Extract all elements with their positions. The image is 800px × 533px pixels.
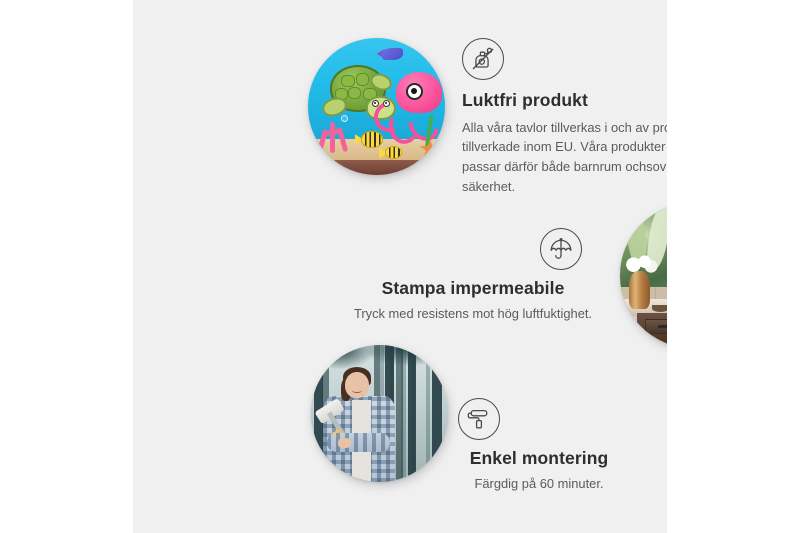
pink-coral: [313, 115, 354, 156]
product-features-panel: Luktfri produkt Alla våra tavlor tillver…: [133, 0, 667, 533]
feature-title: Luktfri produkt: [462, 90, 667, 112]
wooden-vanity: [637, 313, 667, 348]
feature-title: Enkel montering: [395, 448, 667, 470]
blue-fish: [382, 48, 403, 60]
screenshot-stage: Luktfri produkt Alla våra tavlor tillver…: [0, 0, 800, 533]
feature-description: Tryck med resistens mot hög luftfuktighe…: [328, 304, 618, 324]
person-folded-arms: [327, 433, 390, 452]
feature-description: Alla våra tavlor tillverkas i och av pro…: [462, 118, 667, 196]
product-photo-underwater-scene[interactable]: [308, 38, 445, 175]
feature-odor-free: Luktfri produkt Alla våra tavlor tillver…: [462, 38, 667, 196]
decorative-bowl: [652, 305, 667, 312]
brass-vase: [629, 271, 651, 309]
sea-rock: [308, 160, 445, 175]
person-face: [345, 372, 368, 398]
feature-waterproof-print: Stampa impermeabile Tryck med resistens …: [328, 228, 618, 323]
product-photo-bathroom-tropical[interactable]: [620, 203, 667, 348]
yellow-striped-fish: [385, 146, 402, 159]
no-perfume-icon: [462, 38, 504, 80]
person-smile: [352, 387, 362, 392]
feature-description: Färgdig på 60 minuter.: [395, 474, 667, 494]
paint-roller-icon: [458, 398, 500, 440]
umbrella-icon: [540, 228, 582, 270]
feature-title: Stampa impermeabile: [328, 278, 618, 300]
person-hand: [338, 438, 350, 448]
bathroom-illustration: [620, 203, 667, 348]
feature-easy-assembly: Enkel montering Färgdig på 60 minuter.: [395, 398, 667, 493]
underwater-illustration: [308, 38, 445, 175]
yellow-striped-fish: [361, 131, 382, 148]
